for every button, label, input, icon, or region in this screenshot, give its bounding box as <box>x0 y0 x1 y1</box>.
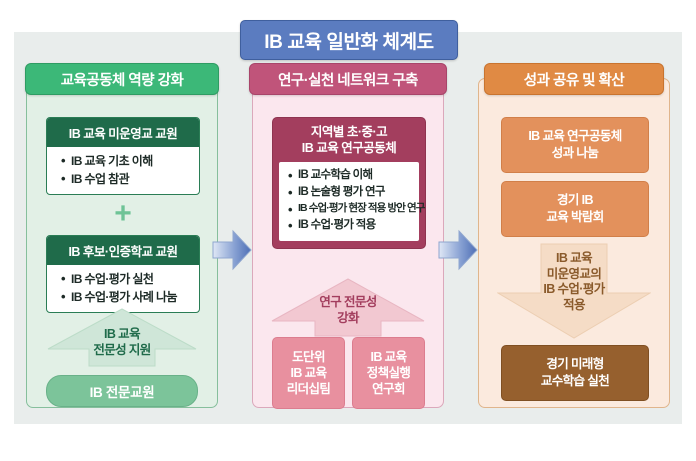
arrow-label-line2: 전문성 지원 <box>47 343 197 359</box>
arrow-label-line1: IB 교육 <box>47 327 197 343</box>
bullet-list: IB 교육 기초 이해 IB 수업 참관 <box>47 147 199 194</box>
box-text: 경기 IB 교육 박람회 <box>546 192 603 226</box>
card-non-operating-teachers: IB 교육 미운영교 교원 IB 교육 기초 이해 IB 수업 참관 <box>46 117 200 195</box>
column-left-header: 교육공동체 역량 강화 <box>25 63 219 95</box>
column-right-header: 성과 공유 및 확산 <box>484 63 664 95</box>
card-body: IB 교수학습 이해 IB 논술형 평가 연구 IB 수업·평가 현장 적용 방… <box>279 162 419 241</box>
card-title: IB 후보·인증학교 교원 <box>47 236 199 265</box>
card-candidate-certified-teachers: IB 후보·인증학교 교원 IB 수업·평가 실천 IB 수업·평가 사례 나눔 <box>46 235 200 313</box>
support-up-arrow: IB 교육 전문성 지원 <box>47 307 197 367</box>
box-line1: 도단위 <box>287 349 331 365</box>
column-left: 교육공동체 역량 강화 IB 교육 미운영교 교원 IB 교육 기초 이해 IB… <box>26 78 218 408</box>
box-text: 도단위 IB 교육 리더십팀 <box>287 349 331 398</box>
box-provincial-leadership-team: 도단위 IB 교육 리더십팀 <box>272 337 345 409</box>
box-policy-implementation-group: IB 교육 정책실행 연구회 <box>352 337 425 409</box>
list-item: IB 교육 기초 이해 <box>61 152 193 170</box>
column-middle-header: 연구·실천 네트워크 구축 <box>249 63 447 95</box>
arrow-label: IB 교육 전문성 지원 <box>47 327 197 358</box>
box-line2: IB 교육 <box>287 365 331 381</box>
list-item: IB 수업 참관 <box>61 170 193 188</box>
list-item: IB 수업·평가 사례 나눔 <box>61 288 193 306</box>
box-line1: IB 교육 연구공동체 <box>528 128 621 145</box>
arrow-label: 연구 전문성 강화 <box>271 295 425 326</box>
column-middle: 연구·실천 네트워크 구축 지역별 초·중·고 IB 교육 연구공동체 IB 교… <box>252 78 444 408</box>
card-title: 지역별 초·중·고 IB 교육 연구공동체 <box>279 124 419 162</box>
box-future-teaching-practice: 경기 미래형 교수학습 실천 <box>501 345 649 401</box>
ib-specialist-teacher-pill: IB 전문교원 <box>46 375 198 407</box>
box-line1: 경기 미래형 <box>541 356 609 373</box>
application-down-arrow: IB 교육 미운영교의 IB 수업·평가 적용 <box>497 243 651 339</box>
bullet-list: IB 교수학습 이해 IB 논술형 평가 연구 IB 수업·평가 현장 적용 방… <box>288 167 415 235</box>
arrow-label-line2: 미운영교의 <box>497 267 651 283</box>
card-title: IB 교육 미운영교 교원 <box>47 118 199 147</box>
box-line2: 교수학습 실천 <box>541 373 609 390</box>
list-item: IB 수업·평가 실천 <box>61 270 193 288</box>
bullet-list: IB 수업·평가 실천 IB 수업·평가 사례 나눔 <box>47 265 199 312</box>
box-line1: 경기 IB <box>546 192 603 209</box>
box-line2: 성과 나눔 <box>528 145 621 162</box>
page-title: IB 교육 일반화 체계도 <box>240 20 458 60</box>
box-research-community-sharing: IB 교육 연구공동체 성과 나눔 <box>501 117 649 173</box>
list-item: IB 논술형 평가 연구 <box>288 184 415 201</box>
box-text: IB 교육 연구공동체 성과 나눔 <box>528 128 621 162</box>
arrow-label-line4: 적용 <box>497 298 651 314</box>
box-text: IB 교육 정책실행 연구회 <box>367 349 411 398</box>
ib-education-diagram: IB 교육 일반화 체계도 교육공동체 역량 강화 IB 교육 미운영교 교원 … <box>0 0 696 461</box>
box-text: 경기 미래형 교수학습 실천 <box>541 356 609 390</box>
arrow-label-line1: 연구 전문성 <box>271 295 425 311</box>
list-item: IB 교수학습 이해 <box>288 167 415 184</box>
list-item: IB 수업·평가 적용 <box>288 217 415 234</box>
research-expertise-up-arrow: 연구 전문성 강화 <box>271 277 425 337</box>
card-regional-research-community: 지역별 초·중·고 IB 교육 연구공동체 IB 교수학습 이해 IB 논술형 … <box>272 117 426 249</box>
plus-icon: + <box>27 199 219 229</box>
arrow-label-line1: IB 교육 <box>497 251 651 267</box>
arrow-middle-to-right <box>438 228 478 272</box>
arrow-label-line2: 강화 <box>271 311 425 327</box>
box-line2: 정책실행 <box>367 365 411 381</box>
box-line1: IB 교육 <box>367 349 411 365</box>
arrow-label: IB 교육 미운영교의 IB 수업·평가 적용 <box>497 251 651 314</box>
box-line2: 교육 박람회 <box>546 209 603 226</box>
card-title-line2: IB 교육 연구공동체 <box>279 140 419 156</box>
box-gyeonggi-ib-expo: 경기 IB 교육 박람회 <box>501 181 649 237</box>
list-item: IB 수업·평가 현장 적용 방안 연구 <box>288 201 415 217</box>
right-arrow-icon <box>438 228 478 272</box>
arrow-left-to-middle <box>212 228 252 272</box>
arrow-label-line3: IB 수업·평가 <box>497 282 651 298</box>
box-line3: 연구회 <box>367 381 411 397</box>
right-arrow-icon <box>212 228 252 272</box>
box-line3: 리더십팀 <box>287 381 331 397</box>
card-title-line1: 지역별 초·중·고 <box>279 124 419 140</box>
column-right: 성과 공유 및 확산 IB 교육 연구공동체 성과 나눔 경기 IB 교육 박람… <box>478 78 670 408</box>
